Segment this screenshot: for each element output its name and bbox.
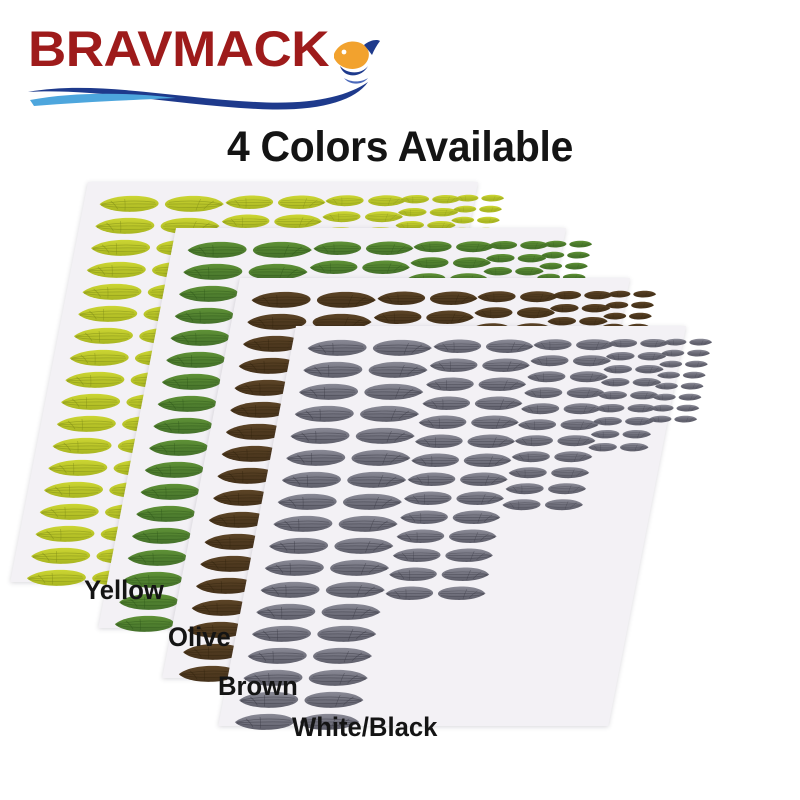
wing-sticker	[327, 558, 393, 577]
wing-sticker	[141, 460, 207, 479]
wing-sticker	[452, 205, 478, 213]
wing-sticker	[408, 256, 451, 269]
wing-sticker	[145, 438, 211, 457]
wing-sticker	[607, 338, 639, 348]
wing-sticker	[357, 404, 423, 423]
wing-pair[interactable]	[419, 395, 526, 414]
wing-sticker	[522, 386, 565, 399]
wing-pair[interactable]	[412, 433, 519, 452]
wing-sticker	[250, 240, 316, 259]
wing-pair[interactable]	[657, 360, 709, 371]
wing-sticker	[500, 498, 543, 511]
wing-sticker	[589, 429, 621, 439]
wing-pair[interactable]	[449, 216, 501, 227]
wing-pair[interactable]	[606, 290, 658, 301]
wing-pair[interactable]	[374, 290, 481, 309]
wing-sticker	[542, 240, 568, 248]
wing-pair[interactable]	[591, 416, 656, 429]
wing-sticker	[405, 471, 458, 487]
wing-pair[interactable]	[278, 470, 410, 492]
wing-sticker	[175, 284, 241, 303]
wing-pair[interactable]	[303, 338, 435, 360]
wing-pair[interactable]	[269, 514, 401, 536]
wing-sticker	[592, 416, 624, 426]
wing-sticker	[419, 395, 472, 411]
wing-sticker	[476, 376, 529, 392]
wing-sticker	[231, 712, 297, 731]
page-title: 4 Colors Available	[20, 122, 780, 172]
wing-sticker	[223, 194, 276, 210]
wing-sticker	[677, 393, 703, 401]
wing-sticker	[587, 442, 619, 452]
wing-pair[interactable]	[306, 259, 413, 278]
wing-pair[interactable]	[430, 338, 537, 357]
wing-sticker	[360, 259, 413, 275]
wing-pair[interactable]	[647, 415, 699, 426]
wing-sticker	[344, 470, 410, 489]
wing-sticker	[509, 450, 552, 463]
wing-sticker	[49, 436, 115, 455]
wing-sticker	[606, 290, 632, 298]
wing-sticker	[480, 194, 506, 202]
wing-sticker	[283, 448, 349, 467]
wing-sticker	[287, 426, 353, 445]
wing-sticker	[323, 580, 389, 599]
color-label-olive: Olive	[168, 622, 231, 653]
wing-sticker	[484, 253, 516, 263]
wing-sticker	[257, 580, 323, 599]
wing-pair[interactable]	[539, 251, 591, 262]
wing-sticker	[649, 404, 675, 412]
brand-logo: BRAVMACK	[28, 16, 378, 111]
wing-pair[interactable]	[286, 426, 418, 448]
wing-sticker	[295, 382, 361, 401]
wing-sticker	[597, 390, 629, 400]
wing-sticker	[546, 482, 589, 495]
wing-sticker	[630, 301, 656, 309]
sheet-sticker-grid	[218, 326, 686, 726]
color-label-white-black: White/Black	[292, 712, 437, 743]
wing-pair[interactable]	[265, 536, 397, 558]
wing-sticker	[75, 304, 141, 323]
wing-pair[interactable]	[248, 624, 380, 646]
wing-pair[interactable]	[649, 404, 701, 415]
wing-sticker	[408, 452, 461, 468]
wing-sticker	[244, 646, 310, 665]
wing-pair[interactable]	[407, 256, 493, 272]
wing-sticker	[549, 466, 592, 479]
wing-sticker	[184, 240, 250, 259]
wing-pair[interactable]	[397, 509, 504, 528]
wing-sticker	[399, 194, 431, 204]
wing-sticker	[336, 514, 402, 533]
wing-pair[interactable]	[542, 240, 594, 251]
wing-sticker	[482, 266, 514, 276]
wing-pair[interactable]	[386, 566, 493, 585]
wing-sticker	[599, 377, 631, 387]
wing-sticker	[424, 309, 477, 325]
color-label-brown: Brown	[218, 671, 298, 702]
wing-pair[interactable]	[499, 498, 585, 514]
wing-pair[interactable]	[588, 429, 653, 442]
wing-sticker	[124, 548, 190, 567]
wing-sticker	[272, 213, 325, 229]
wing-sticker	[154, 394, 220, 413]
wing-pair[interactable]	[454, 194, 506, 205]
wing-sticker	[23, 568, 89, 587]
wing-sticker	[248, 290, 314, 309]
wing-sticker	[397, 509, 450, 525]
wing-sticker	[53, 414, 119, 433]
brand-wordmark: BRAVMACK	[28, 22, 329, 76]
wing-sticker	[551, 290, 583, 300]
wing-sticker	[431, 338, 484, 354]
wing-sticker	[528, 354, 571, 367]
wing-sticker	[658, 360, 684, 368]
wing-sticker	[364, 240, 417, 256]
wing-sticker	[261, 558, 327, 577]
wing-sticker	[219, 213, 272, 229]
wing-sticker	[480, 357, 533, 373]
wing-sticker	[619, 442, 651, 452]
wing-sticker	[45, 458, 111, 477]
wing-sticker	[331, 536, 397, 555]
wing-sticker	[319, 602, 385, 621]
wing-sticker	[307, 259, 360, 275]
wing-pair[interactable]	[521, 386, 607, 402]
wing-pair[interactable]	[662, 338, 714, 349]
wing-sticker	[651, 393, 677, 401]
wing-sticker	[423, 376, 476, 392]
wing-sticker	[660, 349, 686, 357]
wing-sticker	[487, 240, 519, 250]
wing-pair[interactable]	[415, 414, 522, 433]
wing-sticker	[632, 290, 658, 298]
wing-sticker	[87, 238, 153, 257]
wing-sticker	[158, 372, 224, 391]
wing-sticker	[566, 251, 592, 259]
wing-sticker	[525, 370, 568, 383]
wing-pair[interactable]	[524, 370, 610, 386]
wing-pair[interactable]	[273, 492, 405, 514]
wing-pair[interactable]	[426, 357, 533, 376]
wing-sticker	[353, 426, 419, 445]
wing-sticker	[304, 338, 370, 357]
sticker-sheet-white-black[interactable]	[218, 326, 686, 726]
wing-pair[interactable]	[423, 376, 530, 395]
wing-sticker	[688, 338, 714, 346]
wing-sticker	[531, 338, 574, 351]
wing-pair[interactable]	[503, 482, 589, 498]
wing-pair[interactable]	[475, 290, 561, 306]
wing-sticker	[465, 433, 518, 449]
wing-sticker	[682, 371, 708, 379]
wing-pair[interactable]	[471, 306, 557, 322]
wing-pair[interactable]	[655, 371, 707, 382]
wing-sticker	[647, 415, 673, 423]
wing-sticker	[454, 194, 480, 202]
wing-sticker	[478, 205, 504, 213]
wing-sticker	[439, 566, 492, 582]
wing-sticker	[386, 566, 439, 582]
wing-pair[interactable]	[183, 240, 315, 262]
wing-pair[interactable]	[512, 434, 598, 450]
wing-sticker	[427, 357, 480, 373]
wing-pair[interactable]	[509, 450, 595, 466]
wing-sticker	[340, 492, 406, 511]
wing-pair[interactable]	[244, 646, 376, 668]
wing-pair[interactable]	[247, 290, 379, 312]
wing-sticker	[311, 240, 364, 256]
wing-sticker	[447, 528, 500, 544]
wing-sticker	[564, 262, 590, 270]
wing-sticker	[306, 668, 372, 687]
wing-sticker	[162, 194, 228, 213]
wing-pair[interactable]	[400, 490, 507, 509]
wing-sticker	[686, 349, 712, 357]
wing-sticker	[538, 262, 564, 270]
wing-sticker	[546, 316, 578, 326]
wing-sticker	[602, 364, 634, 374]
product-image-canvas: BRAVMACK 4 Colors Available YellowOliveB…	[0, 0, 800, 800]
wing-sticker	[604, 301, 630, 309]
wing-pair[interactable]	[515, 418, 601, 434]
wing-sticker	[548, 303, 580, 313]
wing-sticker	[469, 414, 522, 430]
wing-pair[interactable]	[382, 585, 489, 604]
wing-sticker	[461, 452, 514, 468]
wing-pair[interactable]	[411, 240, 497, 256]
wing-sticker	[320, 210, 363, 223]
wing-pair[interactable]	[299, 360, 431, 382]
wing-sticker	[621, 429, 653, 439]
wing-sticker	[291, 404, 357, 423]
wing-sticker	[171, 306, 237, 325]
wing-pair[interactable]	[527, 354, 613, 370]
wing-sticker	[394, 528, 447, 544]
wing-sticker	[274, 492, 340, 511]
wing-pair[interactable]	[404, 471, 511, 490]
color-label-yellow: Yellow	[84, 575, 164, 606]
wing-sticker	[79, 282, 145, 301]
wing-sticker	[628, 312, 654, 320]
wing-sticker	[276, 194, 329, 210]
wing-sticker	[375, 290, 428, 306]
wing-sticker	[516, 418, 559, 431]
wing-sticker	[472, 306, 515, 319]
wing-pair[interactable]	[261, 558, 393, 580]
wing-sticker	[133, 504, 199, 523]
wing-sticker	[484, 338, 537, 354]
wing-sticker	[503, 482, 546, 495]
wing-sticker	[137, 482, 203, 501]
wing-sticker	[370, 338, 436, 357]
wing-sticker	[543, 498, 586, 511]
wing-pair[interactable]	[310, 240, 417, 259]
wing-pair[interactable]	[451, 205, 503, 216]
wing-sticker	[450, 509, 503, 525]
wing-sticker	[506, 466, 549, 479]
wing-sticker	[436, 585, 489, 601]
wing-pair[interactable]	[291, 404, 423, 426]
wing-sticker	[371, 309, 424, 325]
wing-sticker	[656, 371, 682, 379]
wing-sticker	[278, 470, 344, 489]
wing-sticker	[396, 207, 428, 217]
wing-pair[interactable]	[586, 442, 651, 455]
wing-sticker	[475, 290, 518, 303]
wing-sticker	[70, 326, 136, 345]
wing-sticker	[361, 382, 427, 401]
wing-sticker	[265, 536, 331, 555]
wing-sticker	[540, 251, 566, 259]
wing-sticker	[150, 416, 216, 435]
wing-sticker	[40, 480, 106, 499]
wing-pair[interactable]	[506, 466, 592, 482]
wing-sticker	[270, 514, 336, 533]
wing-sticker	[411, 240, 454, 253]
wing-pair[interactable]	[537, 262, 589, 273]
wing-pair[interactable]	[295, 382, 427, 404]
wing-sticker	[680, 382, 706, 390]
wing-sticker	[32, 524, 98, 543]
wave-swoosh-icon	[24, 78, 372, 114]
wing-sticker	[390, 547, 443, 563]
wing-sticker	[92, 216, 158, 235]
wing-sticker	[28, 546, 94, 565]
wing-sticker	[57, 392, 123, 411]
wing-pair[interactable]	[653, 382, 705, 393]
wing-pair[interactable]	[256, 580, 388, 602]
wing-sticker	[96, 194, 162, 213]
wing-sticker	[180, 262, 246, 281]
wing-sticker	[412, 433, 465, 449]
wing-sticker	[684, 360, 710, 368]
wing-pair[interactable]	[603, 301, 655, 312]
wing-sticker	[458, 471, 511, 487]
wing-sticker	[128, 526, 194, 545]
wing-sticker	[673, 415, 699, 423]
wing-sticker	[519, 402, 562, 415]
wing-pair[interactable]	[518, 402, 604, 418]
wing-sticker	[314, 290, 380, 309]
wing-pair[interactable]	[95, 194, 227, 216]
wing-sticker	[66, 348, 132, 367]
wing-sticker	[302, 690, 368, 709]
wing-sticker	[83, 260, 149, 279]
wing-pair[interactable]	[408, 452, 515, 471]
wing-pair[interactable]	[531, 338, 617, 354]
wing-sticker	[253, 602, 319, 621]
wing-pair[interactable]	[393, 528, 500, 547]
wing-sticker	[675, 404, 701, 412]
wing-sticker	[476, 216, 502, 224]
wing-sticker	[602, 312, 628, 320]
wing-sticker	[568, 240, 594, 248]
wing-pair[interactable]	[252, 602, 384, 624]
wing-sticker	[654, 382, 680, 390]
wing-sticker	[443, 547, 496, 563]
wing-sticker	[428, 290, 481, 306]
wing-sticker	[36, 502, 102, 521]
wing-sticker	[314, 624, 380, 643]
wing-sticker	[62, 370, 128, 389]
wing-sticker	[604, 351, 636, 361]
wing-sticker	[454, 490, 507, 506]
wing-sticker	[310, 646, 376, 665]
wing-sticker	[512, 434, 555, 447]
wing-pair[interactable]	[659, 349, 711, 360]
wing-sticker	[366, 360, 432, 379]
wing-pair[interactable]	[282, 448, 414, 470]
wing-sticker	[349, 448, 415, 467]
wing-sticker	[300, 360, 366, 379]
wing-sticker	[401, 490, 454, 506]
wing-sticker	[472, 395, 525, 411]
wing-sticker	[416, 414, 469, 430]
wing-pair[interactable]	[323, 194, 409, 210]
wing-sticker	[163, 350, 229, 369]
wing-pair[interactable]	[601, 312, 653, 323]
wing-sticker	[167, 328, 233, 347]
wing-sticker	[662, 338, 688, 346]
wing-pair[interactable]	[389, 547, 496, 566]
wing-sticker	[450, 216, 476, 224]
wing-sticker	[323, 194, 366, 207]
wing-sticker	[383, 585, 436, 601]
wing-sticker	[594, 403, 626, 413]
wing-pair[interactable]	[222, 194, 329, 213]
wing-sticker	[248, 624, 314, 643]
wing-pair[interactable]	[651, 393, 703, 404]
wing-pair[interactable]	[319, 210, 405, 226]
